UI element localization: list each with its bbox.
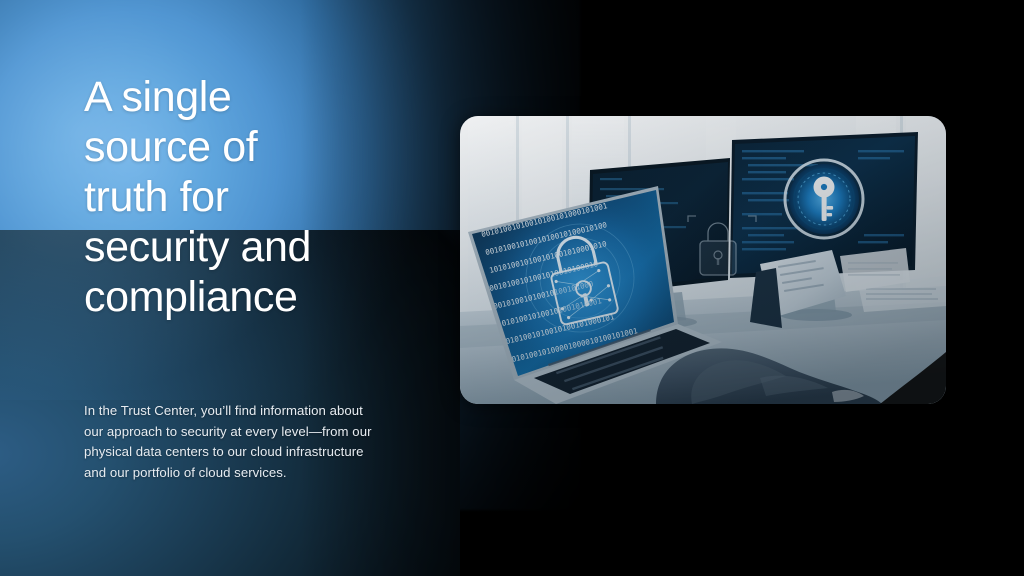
slide-heading: A single source of truth for security an… bbox=[84, 72, 414, 322]
slide-body-text: In the Trust Center, you’ll find informa… bbox=[84, 401, 384, 483]
hero-photo-illustration: 101010010100001000010100101001 001010010… bbox=[460, 116, 946, 404]
photo-color-cast bbox=[460, 116, 946, 404]
hero-photo: 101010010100001000010100101001 001010010… bbox=[460, 116, 946, 404]
slide-canvas: A single source of truth for security an… bbox=[0, 0, 1024, 576]
